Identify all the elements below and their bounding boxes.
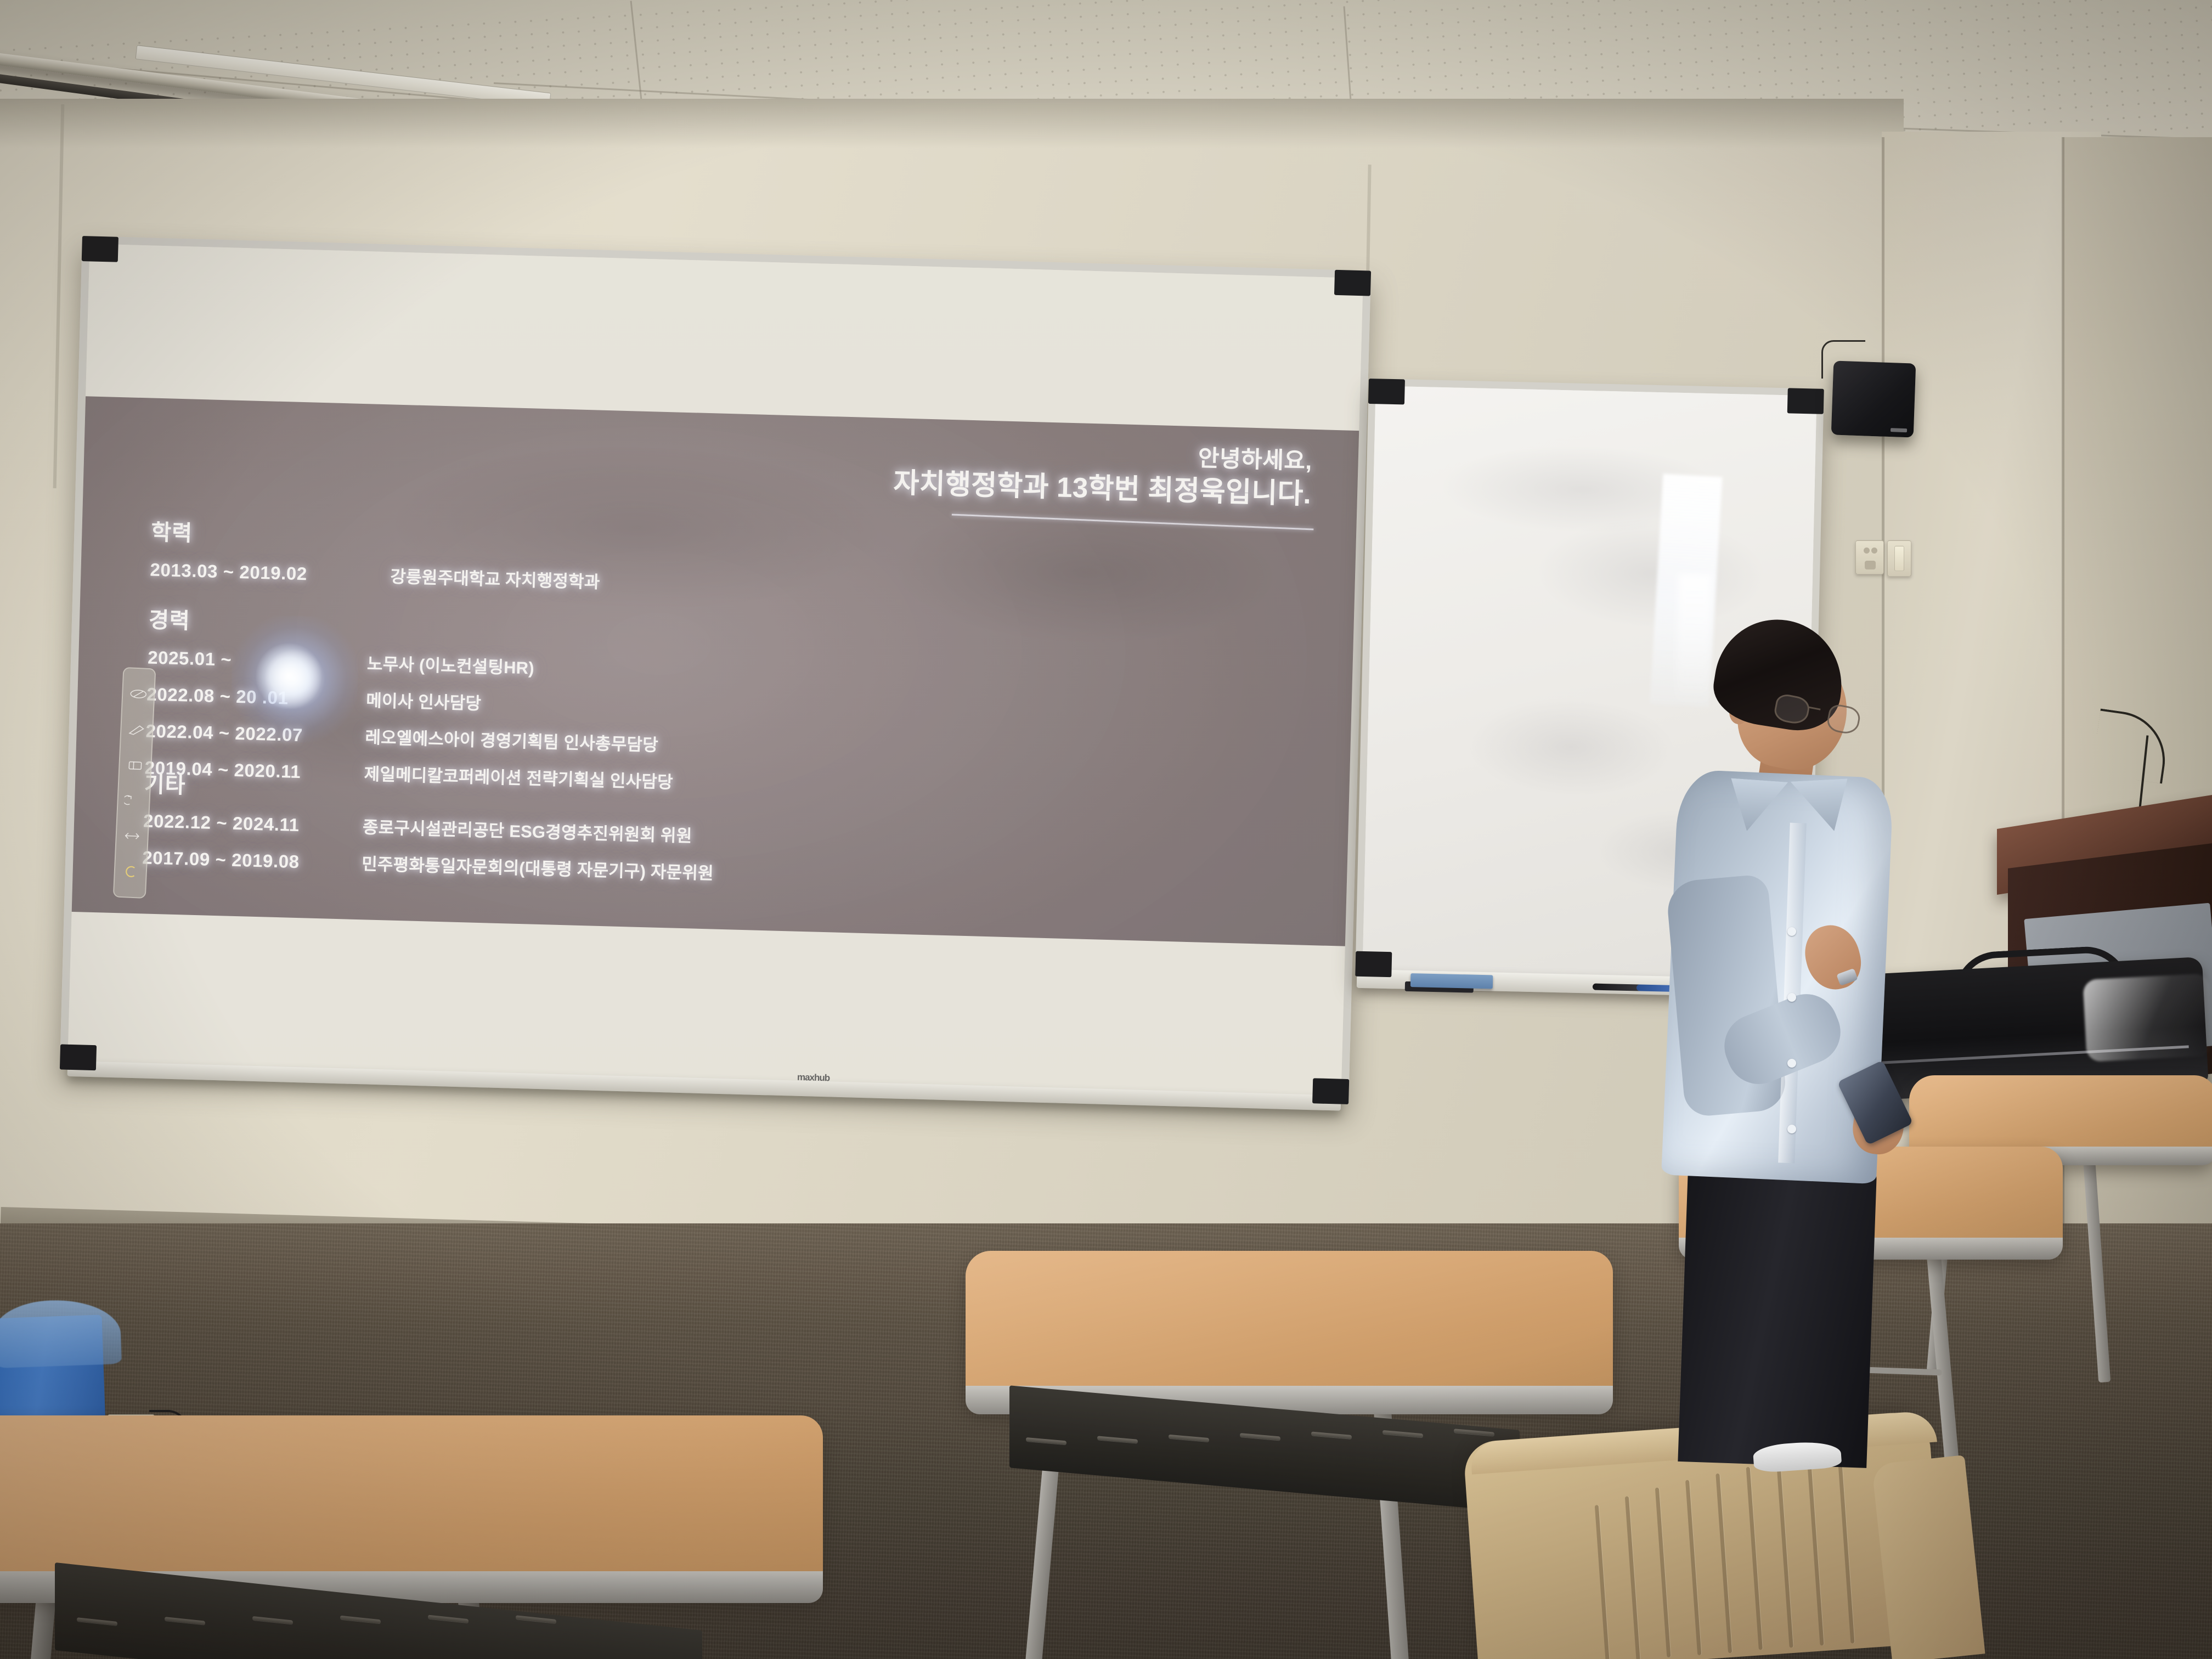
projection-surface: 안녕하세요, 자치행정학과 13학번 최정욱입니다. 학력 2013.03 ~ … bbox=[67, 244, 1363, 1096]
slide-title: 안녕하세요, 자치행정학과 13학번 최정욱입니다. bbox=[893, 436, 1313, 511]
eraser-icon[interactable] bbox=[125, 758, 145, 772]
shirt-button bbox=[1787, 927, 1796, 936]
section-heading: 경력 bbox=[148, 602, 678, 648]
wall-speaker bbox=[1831, 360, 1916, 437]
projection-whiteboard[interactable]: 안녕하세요, 자치행정학과 13학번 최정욱입니다. 학력 2013.03 ~ … bbox=[60, 236, 1371, 1104]
shirt-button bbox=[1787, 993, 1796, 1002]
speaker-badge bbox=[1891, 428, 1907, 432]
resize-arrows-icon[interactable] bbox=[122, 829, 142, 843]
row-date: 2022.04 ~ 2022.07 bbox=[145, 720, 365, 747]
section-other: 기타 2022.12 ~ 2024.11 종로구시설관리공단 ESG경영추진위원… bbox=[142, 766, 716, 884]
row-desc: 노무사 (이노컨설팅HR) bbox=[367, 650, 535, 679]
section-education: 학력 2013.03 ~ 2019.02 강릉원주대학교 자치행정학과 bbox=[150, 515, 601, 593]
trousers bbox=[1678, 1154, 1877, 1468]
section-heading: 학력 bbox=[151, 515, 601, 558]
row-desc: 민주평화통일자문회의(대통령 자문기구) 자문위원 bbox=[362, 850, 714, 884]
wall-top-shadow bbox=[0, 99, 1904, 148]
shirt-button bbox=[1787, 1125, 1796, 1133]
row-desc: 레오엘에스아이 경영기획팀 인사총무담당 bbox=[365, 723, 659, 755]
slide-row: 2022.08 ~ 20 .01 메이사 인사담당 bbox=[146, 680, 675, 719]
switch-toggle[interactable] bbox=[1894, 546, 1904, 571]
board-eraser[interactable] bbox=[1410, 973, 1493, 989]
crescent-icon[interactable] bbox=[120, 865, 140, 879]
slide-row: 2017.09 ~ 2019.08 민주평화통일자문회의(대통령 자문기구) 자… bbox=[142, 844, 714, 884]
pen-icon[interactable] bbox=[127, 723, 147, 737]
title-underline bbox=[952, 513, 1314, 530]
slide-row: 2013.03 ~ 2019.02 강릉원주대학교 자치행정학과 bbox=[150, 556, 600, 593]
row-desc: 강릉원주대학교 자치행정학과 bbox=[390, 562, 600, 592]
row-date: 2022.12 ~ 2024.11 bbox=[143, 810, 363, 837]
wall-outlet[interactable] bbox=[1855, 540, 1884, 574]
row-desc: 메이사 인사담당 bbox=[366, 686, 482, 714]
light-switch[interactable] bbox=[1887, 540, 1911, 577]
bag-highlight bbox=[2083, 973, 2212, 1062]
slide-row: 2022.12 ~ 2024.11 종로구시설관리공단 ESG경영추진위원회 위… bbox=[143, 807, 715, 847]
undo-icon[interactable] bbox=[123, 793, 144, 808]
classroom-photo: 안녕하세요, 자치행정학과 13학번 최정욱입니다. 학력 2013.03 ~ … bbox=[0, 0, 2212, 1659]
presentation-slide: 안녕하세요, 자치행정학과 13학번 최정욱입니다. 학력 2013.03 ~ … bbox=[69, 396, 1363, 947]
row-date: 2025.01 ~ bbox=[148, 647, 368, 674]
row-date: 2013.03 ~ 2019.02 bbox=[150, 560, 370, 586]
section-career: 경력 2025.01 ~ 노무사 (이노컨설팅HR) 2022.08 ~ 20 … bbox=[144, 602, 678, 793]
pointer-select-icon[interactable] bbox=[128, 687, 149, 702]
row-date: 2017.09 ~ 2019.08 bbox=[142, 847, 362, 874]
slide-row: 2022.04 ~ 2022.07 레오엘에스아이 경영기획팀 인사총무담당 bbox=[145, 717, 674, 756]
student-desk bbox=[0, 1415, 823, 1659]
slide-row: 2025.01 ~ 노무사 (이노컨설팅HR) bbox=[148, 644, 676, 683]
shirt-button bbox=[1787, 1059, 1796, 1068]
row-desc: 종로구시설관리공단 ESG경영추진위원회 위원 bbox=[363, 813, 693, 847]
marker-black[interactable] bbox=[1593, 984, 1643, 991]
row-date: 2022.08 ~ 20 .01 bbox=[146, 684, 366, 710]
